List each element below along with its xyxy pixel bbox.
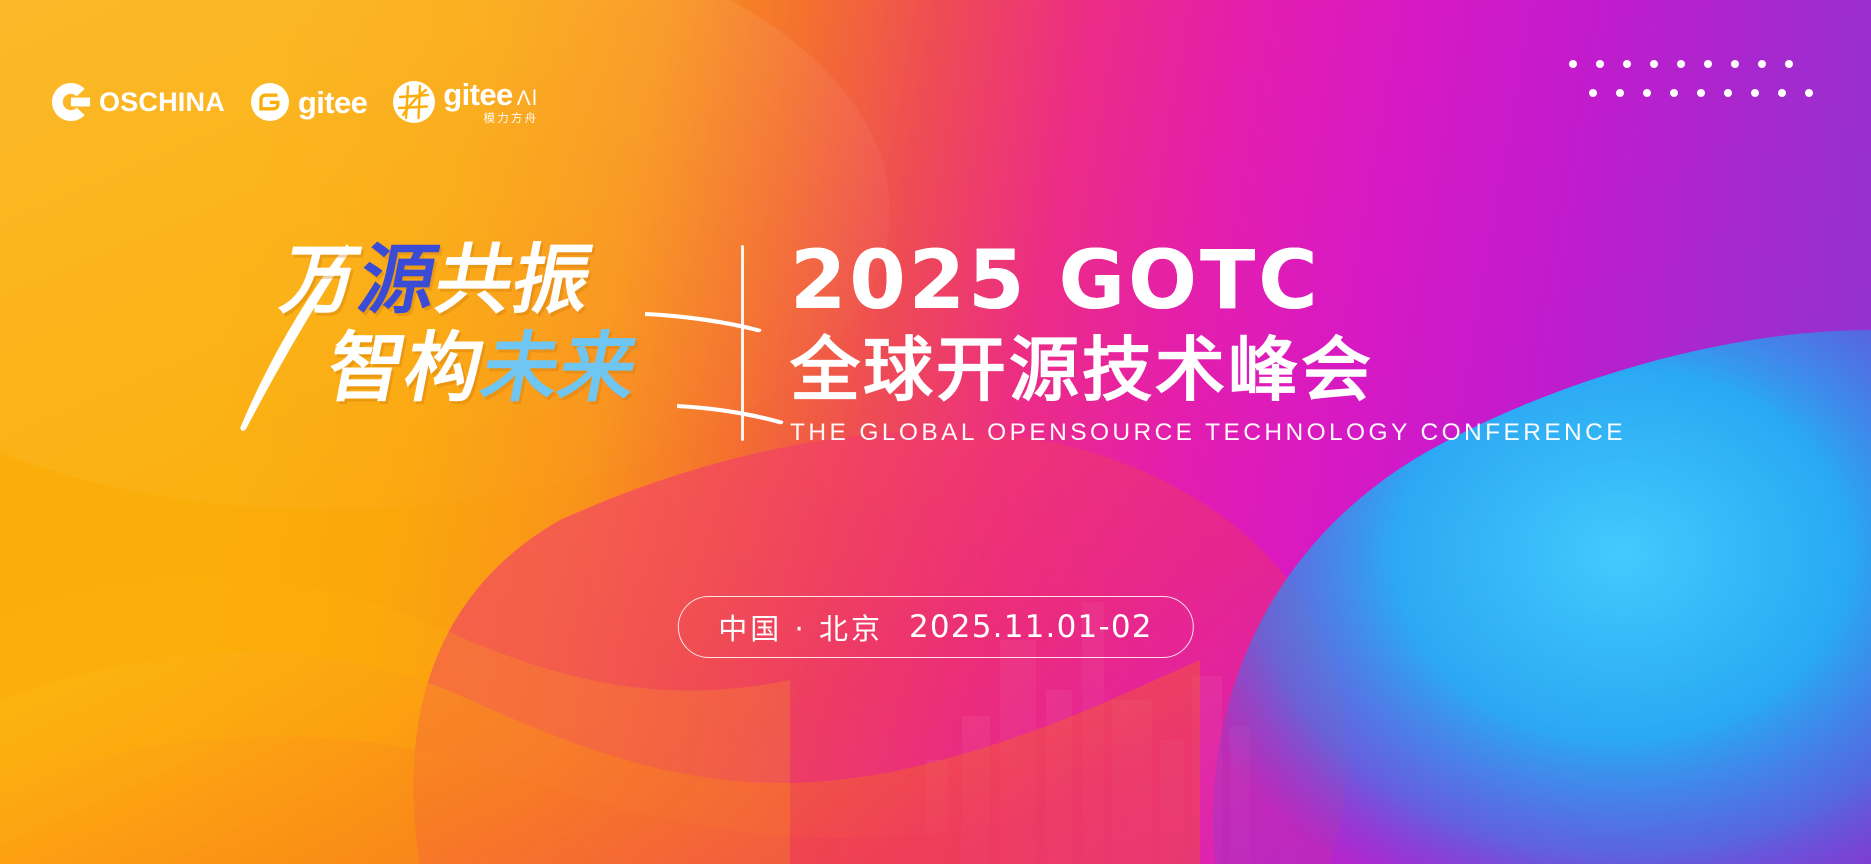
dot-icon [1785,60,1793,68]
dot-icon [1724,89,1732,97]
dot-icon [1623,60,1631,68]
dot-icon [1596,60,1604,68]
dot-icon [1731,60,1739,68]
logo-oschina-label: OSCHINA [99,89,225,116]
slogan-swoosh-right-1-icon [643,308,763,334]
gitee-ai-text-stack: gitee Λl 模力方舟 [443,79,538,126]
logo-gitee-ai[interactable]: gitee Λl 模力方舟 [393,78,538,126]
event-chinese-title: 全球开源技术峰会 [790,334,1626,407]
dot-icon [1670,89,1678,97]
logo-row: OSCHINA gitee gite [52,78,538,126]
dot-icon [1778,89,1786,97]
slogan-line-1: 万源共振 [276,242,599,318]
logo-oschina[interactable]: OSCHINA [52,78,225,126]
oschina-c-mark-icon [52,83,90,121]
pill-date-label: 2025.11.01-02 [909,609,1153,645]
logo-gitee[interactable]: gitee [251,78,367,126]
dot-icon [1643,89,1651,97]
dot-icon [1569,60,1577,68]
slogan-word-zhigou: 智构 [320,323,491,412]
logo-gitee-ai-word: gitee [443,79,512,110]
slogan-word-gongzhen: 共振 [428,235,599,324]
location-date-pill: 中国 · 北京 2025.11.01-02 [677,596,1193,658]
dot-icon [1758,60,1766,68]
pill-city-label: 中国 · 北京 [718,606,883,648]
dot-icon [1805,89,1813,97]
dot-icon [1677,60,1685,68]
dot-grid-decoration [1569,58,1813,99]
logo-gitee-ai-suffix: Λl [517,88,539,109]
dot-icon [1697,89,1705,97]
gitee-ai-globe-mark-icon [393,81,435,123]
slogan-swoosh-right-2-icon [675,400,785,426]
event-english-title: THE GLOBAL OPENSOURCE TECHNOLOGY CONFERE… [790,419,1626,447]
dot-icon [1704,60,1712,68]
dot-icon [1589,89,1597,97]
dot-icon [1616,89,1624,97]
logo-gitee-ai-subtitle: 模力方舟 [484,114,539,126]
slogan-block: 万源共振 智构未来 [245,238,715,448]
dot-grid-row-1 [1569,58,1813,70]
logo-gitee-label: gitee [298,87,367,118]
dot-icon [1751,89,1759,97]
gotc-2025-banner: OSCHINA gitee gite [0,0,1871,864]
title-divider [741,245,744,441]
gitee-g-mark-icon [251,83,289,121]
dot-grid-row-2 [1589,87,1813,99]
event-brand-title-text: 2025 GOTC [790,234,1321,328]
banner-content: 万源共振 智构未来 2025 GOTC 2025 GOTC 全球开源技术峰会 T… [0,238,1871,448]
title-block: 2025 GOTC 2025 GOTC 全球开源技术峰会 THE GLOBAL … [790,239,1626,447]
slogan-line-2: 智构未来 [322,330,645,406]
event-brand-title: 2025 GOTC 2025 GOTC [790,241,1626,322]
dot-icon [1650,60,1658,68]
slogan-word-weilai: 未来 [474,323,645,412]
